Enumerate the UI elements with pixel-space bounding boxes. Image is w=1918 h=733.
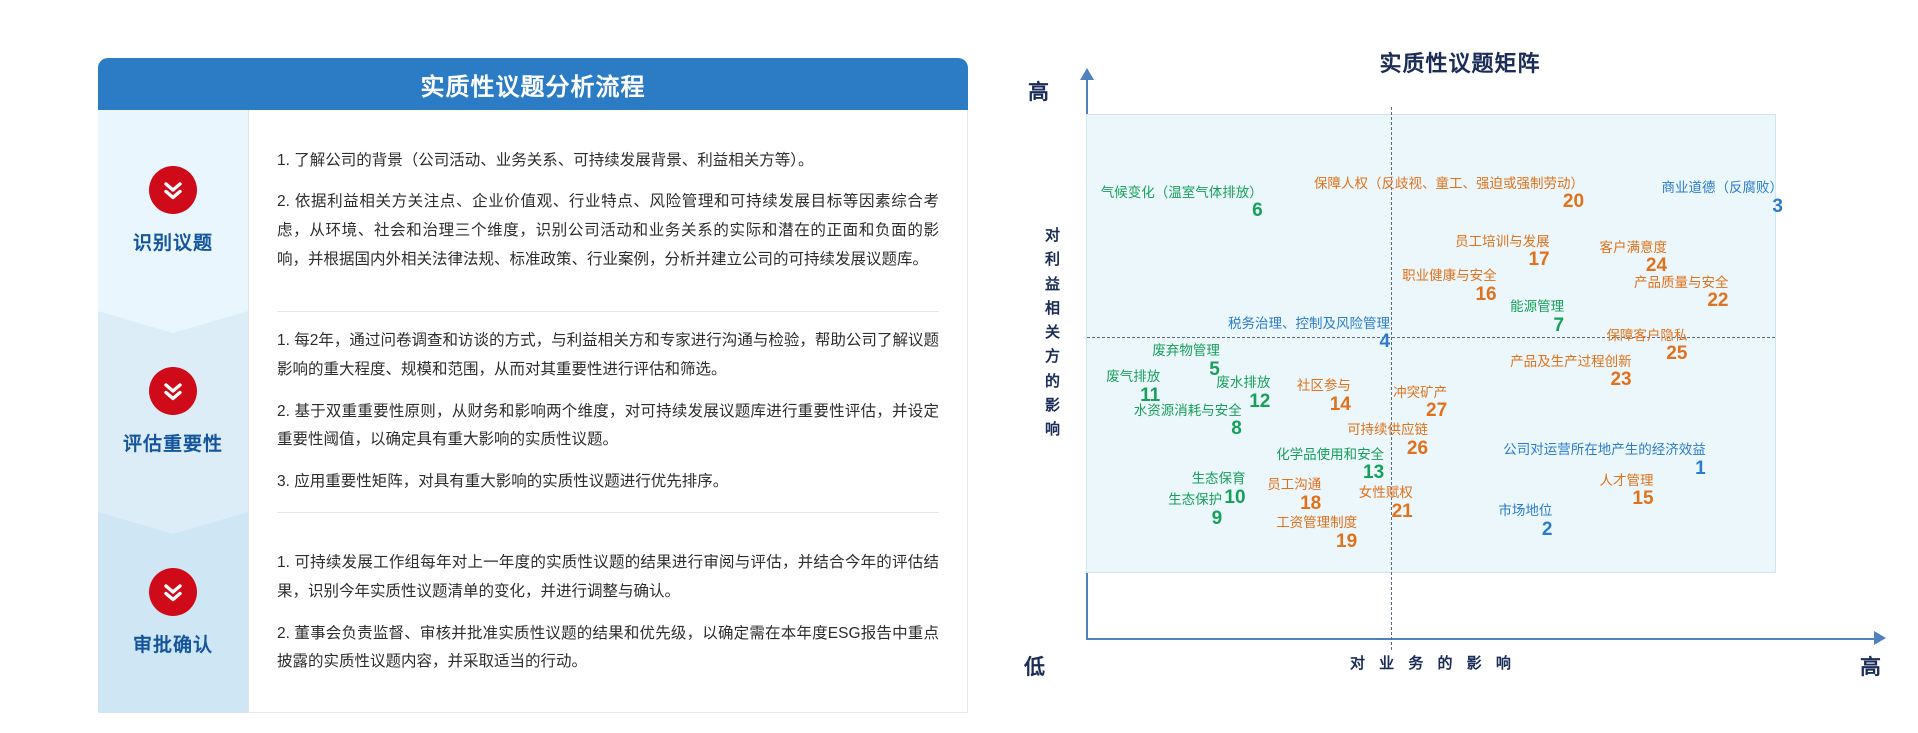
matrix-item-number: 19 <box>1276 532 1357 551</box>
matrix-item-number: 16 <box>1402 285 1497 304</box>
flow-description-assess: 1. 每2年，通过问卷调查和访谈的方式，与利益相关方和专家进行沟通与检验，帮助公… <box>277 311 939 512</box>
matrix-item[interactable]: 员工培训与发展17 <box>1455 235 1550 270</box>
matrix-item[interactable]: 人才管理15 <box>1600 474 1654 509</box>
matrix-item-label: 化学品使用和安全 <box>1276 448 1384 462</box>
matrix-plot-area: 气候变化（温室气体排放）6保障人权（反歧视、童工、强迫或强制劳动）20商业道德（… <box>1086 114 1776 573</box>
matrix-item-number: 6 <box>1101 201 1263 220</box>
matrix-item-label: 生态保育 <box>1192 472 1246 486</box>
matrix-item-number: 21 <box>1359 502 1413 521</box>
matrix-item[interactable]: 税务治理、控制及风险管理4 <box>1228 317 1390 352</box>
flow-paragraph: 1. 每2年，通过问卷调查和访谈的方式，与利益相关方和专家进行沟通与检验，帮助公… <box>277 327 939 384</box>
double-chevron-down-icon <box>149 367 197 415</box>
matrix-item[interactable]: 冲突矿产27 <box>1393 386 1447 421</box>
matrix-item-label: 保障客户隐私 <box>1606 329 1687 343</box>
matrix-item-number: 5 <box>1152 360 1220 379</box>
flow-paragraph: 1. 了解公司的背景（公司活动、业务关系、可持续发展背景、利益相关方等）。 <box>277 147 939 176</box>
page-root: 实质性议题分析流程 识别议题 <box>0 0 1918 733</box>
matrix-item-label: 保障人权（反歧视、童工、强迫或强制劳动） <box>1314 177 1584 191</box>
y-axis-title: 对 利 益 相 关 方 的 影 响 <box>1040 224 1066 443</box>
matrix-item[interactable]: 社区参与14 <box>1297 379 1351 414</box>
materiality-matrix-chart: 实质性议题矩阵 高 低 高 对 利 益 相 关 方 的 影 响 对 业 务 的 … <box>1020 36 1900 726</box>
matrix-item-number: 22 <box>1634 291 1729 310</box>
x-axis-high-label: 高 <box>1860 651 1881 681</box>
matrix-item[interactable]: 女性赋权21 <box>1359 486 1413 521</box>
flow-paragraph: 3. 应用重要性矩阵，对具有重大影响的实质性议题进行优先排序。 <box>277 468 939 497</box>
flow-panel-title: 实质性议题分析流程 <box>98 58 968 110</box>
matrix-item-number: 27 <box>1393 401 1447 420</box>
matrix-item[interactable]: 废气排放11 <box>1106 370 1160 405</box>
flow-paragraph: 2. 依据利益相关方关注点、企业价值观、行业特点、风险管理和可持续发展目标等因素… <box>277 188 939 274</box>
x-axis-low-label: 低 <box>1024 651 1045 681</box>
matrix-item-label: 冲突矿产 <box>1393 386 1447 400</box>
matrix-item-number: 11 <box>1106 386 1160 405</box>
matrix-item-number: 18 <box>1267 494 1321 513</box>
matrix-item[interactable]: 产品质量与安全22 <box>1634 276 1729 311</box>
matrix-item-number: 23 <box>1510 370 1632 389</box>
matrix-item-label: 员工培训与发展 <box>1455 235 1550 249</box>
flow-panel-body: 识别议题 评估重要性 <box>98 110 968 713</box>
matrix-item[interactable]: 废弃物管理5 <box>1152 344 1220 379</box>
flow-paragraph: 2. 基于双重重要性原则，从财务和影响两个维度，对可持续发展议题库进行重要性评估… <box>277 398 939 455</box>
matrix-item-label: 人才管理 <box>1600 474 1654 488</box>
matrix-item[interactable]: 能源管理7 <box>1510 300 1564 335</box>
matrix-item-label: 能源管理 <box>1510 300 1564 314</box>
matrix-item[interactable]: 工资管理制度19 <box>1276 516 1357 551</box>
matrix-item-label: 工资管理制度 <box>1276 516 1357 530</box>
matrix-item-label: 社区参与 <box>1297 379 1351 393</box>
matrix-item-label: 可持续供应链 <box>1347 423 1428 437</box>
matrix-item-number: 7 <box>1510 316 1564 335</box>
matrix-item-label: 生态保护 <box>1168 493 1222 507</box>
flow-stage-label: 审批确认 <box>133 630 213 657</box>
matrix-item-number: 8 <box>1134 419 1242 438</box>
matrix-item-label: 客户满意度 <box>1600 241 1668 255</box>
flow-description-column: 1. 了解公司的背景（公司活动、业务关系、可持续发展背景、利益相关方等）。 2.… <box>248 110 968 713</box>
matrix-item-label: 产品及生产过程创新 <box>1510 355 1632 369</box>
flow-paragraph: 2. 董事会负责监督、审核并批准实质性议题的结果和优先级，以确定需在本年度ESG… <box>277 620 939 677</box>
matrix-item-label: 废气排放 <box>1106 370 1160 384</box>
matrix-item-number: 20 <box>1314 192 1584 211</box>
flow-stage-column: 识别议题 评估重要性 <box>98 110 248 713</box>
double-chevron-down-icon <box>149 568 197 616</box>
matrix-item-label: 员工沟通 <box>1267 478 1321 492</box>
matrix-item-number: 2 <box>1498 520 1552 539</box>
matrix-item-number: 17 <box>1455 250 1550 269</box>
matrix-item[interactable]: 产品及生产过程创新23 <box>1510 355 1632 390</box>
flow-stage-approve[interactable]: 审批确认 <box>98 512 248 713</box>
matrix-item[interactable]: 员工沟通18 <box>1267 478 1321 513</box>
chart-title: 实质性议题矩阵 <box>1020 46 1900 78</box>
x-axis-title: 对 业 务 的 影 响 <box>1350 652 1516 673</box>
flow-description-approve: 1. 可持续发展工作组每年对上一年度的实质性议题的结果进行审阅与评估，并结合今年… <box>277 512 939 713</box>
matrix-item-label: 女性赋权 <box>1359 486 1413 500</box>
flow-stage-identify[interactable]: 识别议题 <box>98 110 248 311</box>
matrix-item-label: 气候变化（温室气体排放） <box>1101 186 1263 200</box>
matrix-item[interactable]: 市场地位2 <box>1498 504 1552 539</box>
matrix-item-label: 职业健康与安全 <box>1402 269 1497 283</box>
matrix-item[interactable]: 气候变化（温室气体排放）6 <box>1101 186 1263 221</box>
x-axis-line <box>1086 638 1876 640</box>
materiality-process-panel: 实质性议题分析流程 识别议题 <box>98 58 968 713</box>
matrix-item-label: 税务治理、控制及风险管理 <box>1228 317 1390 331</box>
matrix-item-number: 4 <box>1228 332 1390 351</box>
matrix-item-label: 产品质量与安全 <box>1634 276 1729 290</box>
flow-stage-assess[interactable]: 评估重要性 <box>98 311 248 512</box>
matrix-item-label: 市场地位 <box>1498 504 1552 518</box>
flow-description-identify: 1. 了解公司的背景（公司活动、业务关系、可持续发展背景、利益相关方等）。 2.… <box>277 110 939 311</box>
flow-paragraph: 1. 可持续发展工作组每年对上一年度的实质性议题的结果进行审阅与评估，并结合今年… <box>277 549 939 606</box>
matrix-item-label: 水资源消耗与安全 <box>1134 404 1242 418</box>
matrix-item-label: 公司对运营所在地产生的经济效益 <box>1503 443 1706 457</box>
matrix-item-number: 9 <box>1168 509 1222 528</box>
matrix-item[interactable]: 职业健康与安全16 <box>1402 269 1497 304</box>
matrix-item-label: 商业道德（反腐败） <box>1661 181 1783 195</box>
x-axis-arrow-icon <box>1874 631 1886 645</box>
matrix-item[interactable]: 客户满意度24 <box>1600 241 1668 276</box>
matrix-item-number: 24 <box>1600 256 1668 275</box>
y-axis-high-label: 高 <box>1028 76 1049 106</box>
flow-stage-label: 识别议题 <box>133 228 213 255</box>
flow-stage-label: 评估重要性 <box>123 429 223 456</box>
matrix-item[interactable]: 保障人权（反歧视、童工、强迫或强制劳动）20 <box>1314 177 1584 212</box>
matrix-item-label: 废弃物管理 <box>1152 344 1220 358</box>
matrix-item[interactable]: 水资源消耗与安全8 <box>1134 404 1242 439</box>
matrix-item-number: 3 <box>1661 197 1783 216</box>
matrix-item[interactable]: 商业道德（反腐败）3 <box>1661 181 1783 216</box>
matrix-item[interactable]: 生态保护9 <box>1168 493 1222 528</box>
double-chevron-down-icon <box>149 166 197 214</box>
matrix-item-label: 废水排放 <box>1216 376 1270 390</box>
matrix-item-number: 15 <box>1600 489 1654 508</box>
matrix-item-number: 14 <box>1297 395 1351 414</box>
